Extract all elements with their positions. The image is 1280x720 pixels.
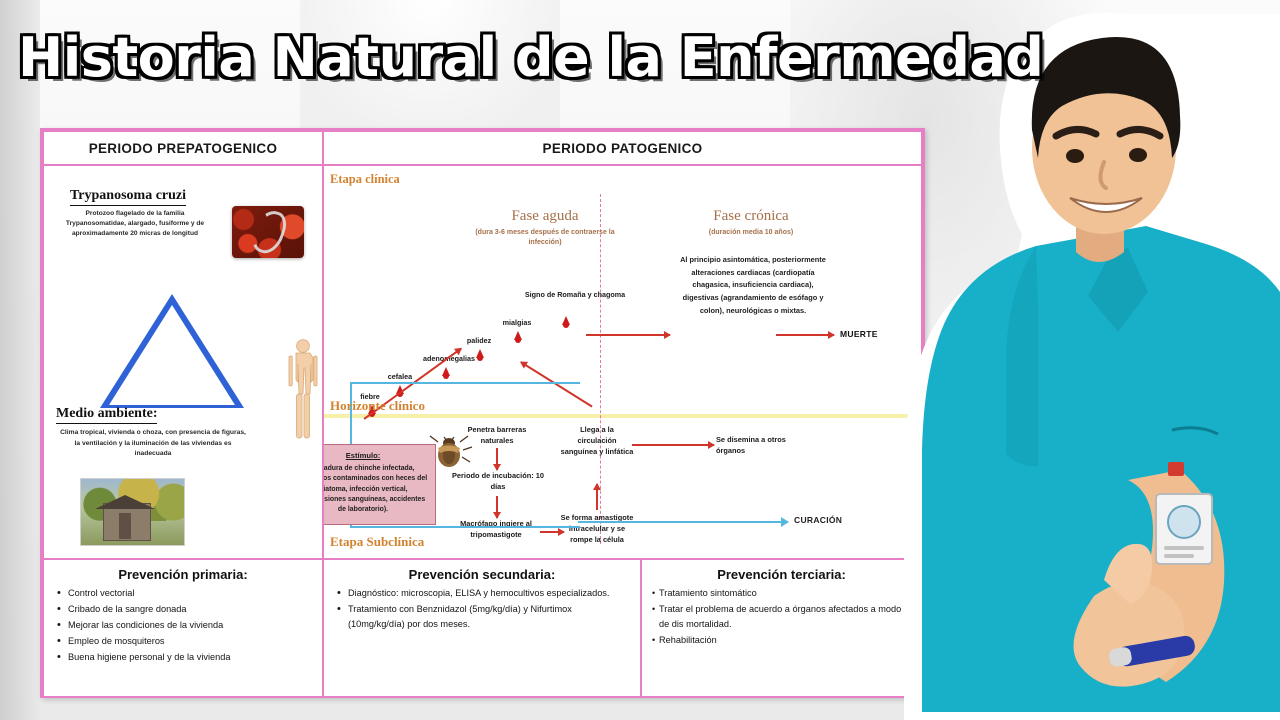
fase-cronica-title: Fase crónica <box>666 208 836 225</box>
shack-photo <box>80 478 185 546</box>
human-host-icon <box>282 338 324 440</box>
prevencion-primaria-list: Control vectorial Cribado de la sangre d… <box>54 586 312 665</box>
page-title: Historia Natural de la Enfermedad <box>18 26 1043 89</box>
symptom-label-romana: Signo de Romaña y chagoma <box>520 290 630 299</box>
label-horizonte-clinico: Horizonte clínico <box>330 398 425 414</box>
symptom-label-mialgias: mialgias <box>490 318 544 327</box>
symptom-marker-romana <box>562 316 570 325</box>
symptom-marker-adenomegalias <box>442 367 450 376</box>
trypanosoma-image <box>232 206 304 258</box>
epidemiologic-triangle-icon <box>100 294 244 408</box>
list-item: Empleo de mosquiteros <box>54 634 312 649</box>
list-item: Tratamiento sintomático <box>652 586 911 601</box>
prevencion-terciaria-title: Prevención terciaria: <box>652 567 911 582</box>
outcome-muerte: MUERTE <box>840 329 878 339</box>
list-item: Tratar el problema de acuerdo a órganos … <box>652 602 911 632</box>
prepatogenico-panel: Trypanosoma cruzi Protozoo flagelado de … <box>42 166 324 560</box>
symptom-marker-mialgias <box>514 331 522 340</box>
prevencion-secundaria-cell: Prevención secundaria: Diagnóstico: micr… <box>322 560 642 698</box>
arrow-to-disemina <box>632 444 714 446</box>
prevencion-terciaria-list: Tratamiento sintomático Tratar el proble… <box>652 586 911 648</box>
list-item: Control vectorial <box>54 586 312 601</box>
list-item: Buena higiene personal y de la vivienda <box>54 650 312 665</box>
prevencion-terciaria-cell: Prevención terciaria: Tratamiento sintom… <box>640 560 923 698</box>
arrow-to-cronica <box>586 334 670 336</box>
prevencion-primaria-cell: Prevención primaria: Control vectorial C… <box>42 560 324 698</box>
triangle-inner <box>109 305 235 405</box>
header-prepatogenico: PERIODO PREPATOGENICO <box>42 130 324 166</box>
flow-step-disemina: Se disemina a otros órganos <box>716 434 796 456</box>
period-header-row: PERIODO PREPATOGENICO PERIODO PATOGENICO <box>42 130 923 166</box>
diagram-body-row: Trypanosoma cruzi Protozoo flagelado de … <box>42 166 923 560</box>
list-item: Tratamiento con Benznidazol (5mg/kg/día)… <box>334 602 630 632</box>
curacion-arrow <box>578 521 788 523</box>
list-item: Cribado de la sangre donada <box>54 602 312 617</box>
list-item: Mejorar las condiciones de la vivienda <box>54 618 312 633</box>
prevencion-secundaria-list: Diagnóstico: microscopia, ELISA y hemocu… <box>334 586 630 632</box>
list-item: Diagnóstico: microscopia, ELISA y hemocu… <box>334 586 630 601</box>
list-item: Rehabilitación <box>652 633 911 648</box>
environment-description: Clima tropical, vivienda o choza, con pr… <box>58 428 248 460</box>
arrow-to-muerte <box>776 334 834 336</box>
environment-title: Medio ambiente: <box>56 406 157 424</box>
agent-description: Protozoo flagelado de la familia Trypano… <box>60 209 210 240</box>
prevencion-primaria-title: Prevención primaria: <box>54 567 312 582</box>
label-etapa-subclinica: Etapa Subclínica <box>330 534 424 550</box>
diagram-slide: PERIODO PREPATOGENICO PERIODO PATOGENICO… <box>40 128 925 698</box>
fase-aguda-title: Fase aguda <box>460 208 630 225</box>
roof-shape <box>95 495 155 509</box>
estimulo-text: (picadura de chinche infectada, alimento… <box>322 464 430 516</box>
label-etapa-clinica: Etapa clínica <box>330 172 400 187</box>
fase-cronica-subtitle: (duración media 10 años) <box>666 228 836 238</box>
estimulo-box: Estímulo: (picadura de chinche infectada… <box>322 444 436 525</box>
patogenico-panel: Etapa clínica Horizonte clínico Etapa Su… <box>322 166 923 560</box>
symptom-label-palidez: palidez <box>454 336 504 345</box>
background-wall-shadow <box>0 0 40 720</box>
outcome-curacion: CURACIÓN <box>794 515 842 525</box>
header-patogenico: PERIODO PATOGENICO <box>322 130 923 166</box>
agent-title: Trypanosoma cruzi <box>70 188 186 206</box>
prevencion-secundaria-title: Prevención secundaria: <box>334 567 630 582</box>
fase-aguda-subtitle: (dura 3-6 meses después de contraerse la… <box>460 228 630 248</box>
estimulo-title: Estímulo: <box>322 451 430 460</box>
prevention-row: Prevención primaria: Control vectorial C… <box>42 560 923 698</box>
fase-cronica-body: Al principio asintomática, posteriorment… <box>678 254 828 318</box>
parasite-shape <box>248 206 290 257</box>
arrow-amastigote-to-circulacion <box>596 484 598 510</box>
door-shape <box>119 513 131 539</box>
